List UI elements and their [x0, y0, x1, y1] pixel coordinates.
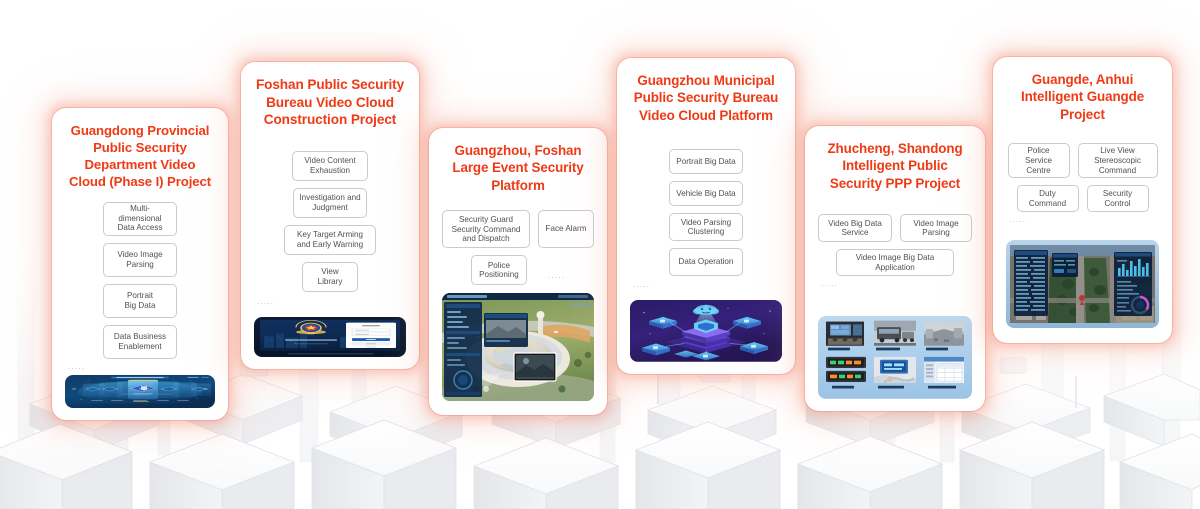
feature-tag-list: Police Service Centre Live View Stereosc… — [1006, 143, 1159, 212]
project-card-guangzhou-municipal[interactable]: Guangzhou Municipal Public Security Bure… — [617, 58, 795, 374]
feature-tag[interactable]: Data Operation — [669, 248, 743, 276]
feature-tag[interactable]: Video Image Parsing — [103, 243, 177, 277]
project-card-guangdong-provincial[interactable]: Guangdong Provincial Public Security Dep… — [52, 108, 228, 420]
card-title: Zhucheng, Shandong Intelligent Public Se… — [818, 140, 972, 192]
project-card-guangde-anhui[interactable]: Guangde, Anhui Intelligent Guangde Proje… — [993, 57, 1172, 343]
more-items-ellipsis: ..... — [545, 272, 565, 280]
feature-tag[interactable]: Police Positioning — [471, 255, 527, 285]
feature-tag-list: Video Content Exhaustion Investigation a… — [254, 151, 406, 292]
more-items-ellipsis: ..... — [254, 298, 406, 306]
feature-tag-list: Video Big Data Service Video Image Parsi… — [818, 214, 972, 276]
card-title: Foshan Public Security Bureau Video Clou… — [254, 76, 406, 129]
more-items-ellipsis: ..... — [630, 281, 782, 289]
feature-tag[interactable]: Key Target Arming and Early Warning — [284, 225, 376, 255]
feature-tag[interactable]: Video Image Parsing — [900, 214, 972, 242]
project-card-zhucheng-shandong[interactable]: Zhucheng, Shandong Intelligent Public Se… — [805, 126, 985, 411]
more-items-ellipsis: ..... — [1006, 216, 1159, 224]
feature-tag-list: Security Guard Security Command and Disp… — [442, 210, 594, 285]
screenshot-police-login-portal — [254, 317, 406, 357]
card-title: Guangzhou, Foshan Large Event Security P… — [442, 142, 594, 194]
feature-tag[interactable]: Video Image Big Data Application — [836, 249, 954, 276]
feature-tag[interactable]: Security Guard Security Command and Disp… — [442, 210, 530, 248]
feature-tag-list: Multi-dimensional Data Access Video Imag… — [65, 202, 215, 359]
feature-tag[interactable]: Data Business Enablement — [103, 325, 177, 359]
more-items-ellipsis: ..... — [818, 280, 972, 288]
feature-tag[interactable]: Police Service Centre — [1008, 143, 1070, 178]
feature-tag[interactable]: Face Alarm — [538, 210, 594, 248]
feature-tag[interactable]: Duty Command — [1017, 185, 1079, 212]
feature-tag[interactable]: Investigation and Judgment — [293, 188, 367, 218]
feature-tag[interactable]: Portrait Big Data — [669, 149, 743, 174]
feature-tag[interactable]: Video Big Data Service — [818, 214, 892, 242]
feature-tag[interactable]: Portrait Big Data — [103, 284, 177, 318]
feature-tag[interactable]: Live View Stereoscopic Command — [1078, 143, 1158, 178]
feature-tag-list: Portrait Big Data Vehicle Big Data Video… — [630, 149, 782, 276]
feature-tag[interactable]: Security Control — [1087, 185, 1149, 212]
screenshot-isometric-cloud-network — [630, 300, 782, 362]
feature-tag[interactable]: View Library — [302, 262, 358, 292]
feature-tag[interactable]: Video Parsing Clustering — [669, 213, 743, 241]
screenshot-stadium-3d-monitoring — [442, 293, 594, 401]
project-card-guangzhou-foshan-event[interactable]: Guangzhou, Foshan Large Event Security P… — [429, 128, 607, 415]
card-title: Guangdong Provincial Public Security Dep… — [65, 122, 215, 191]
feature-tag[interactable]: Video Content Exhaustion — [292, 151, 368, 181]
card-title: Guangde, Anhui Intelligent Guangde Proje… — [1006, 71, 1159, 123]
feature-tag[interactable]: Vehicle Big Data — [669, 181, 743, 206]
project-card-row: Guangdong Provincial Public Security Dep… — [0, 0, 1200, 509]
screenshot-video-cloud-app-carousel — [65, 375, 215, 408]
more-items-ellipsis: ..... — [65, 363, 215, 371]
screenshot-city-aerial-dashboard — [1006, 240, 1159, 328]
screenshot-traffic-photo-grid — [818, 316, 972, 399]
feature-tag[interactable]: Multi-dimensional Data Access — [103, 202, 177, 236]
card-title: Guangzhou Municipal Public Security Bure… — [630, 72, 782, 124]
project-card-foshan-bureau[interactable]: Foshan Public Security Bureau Video Clou… — [241, 62, 419, 369]
